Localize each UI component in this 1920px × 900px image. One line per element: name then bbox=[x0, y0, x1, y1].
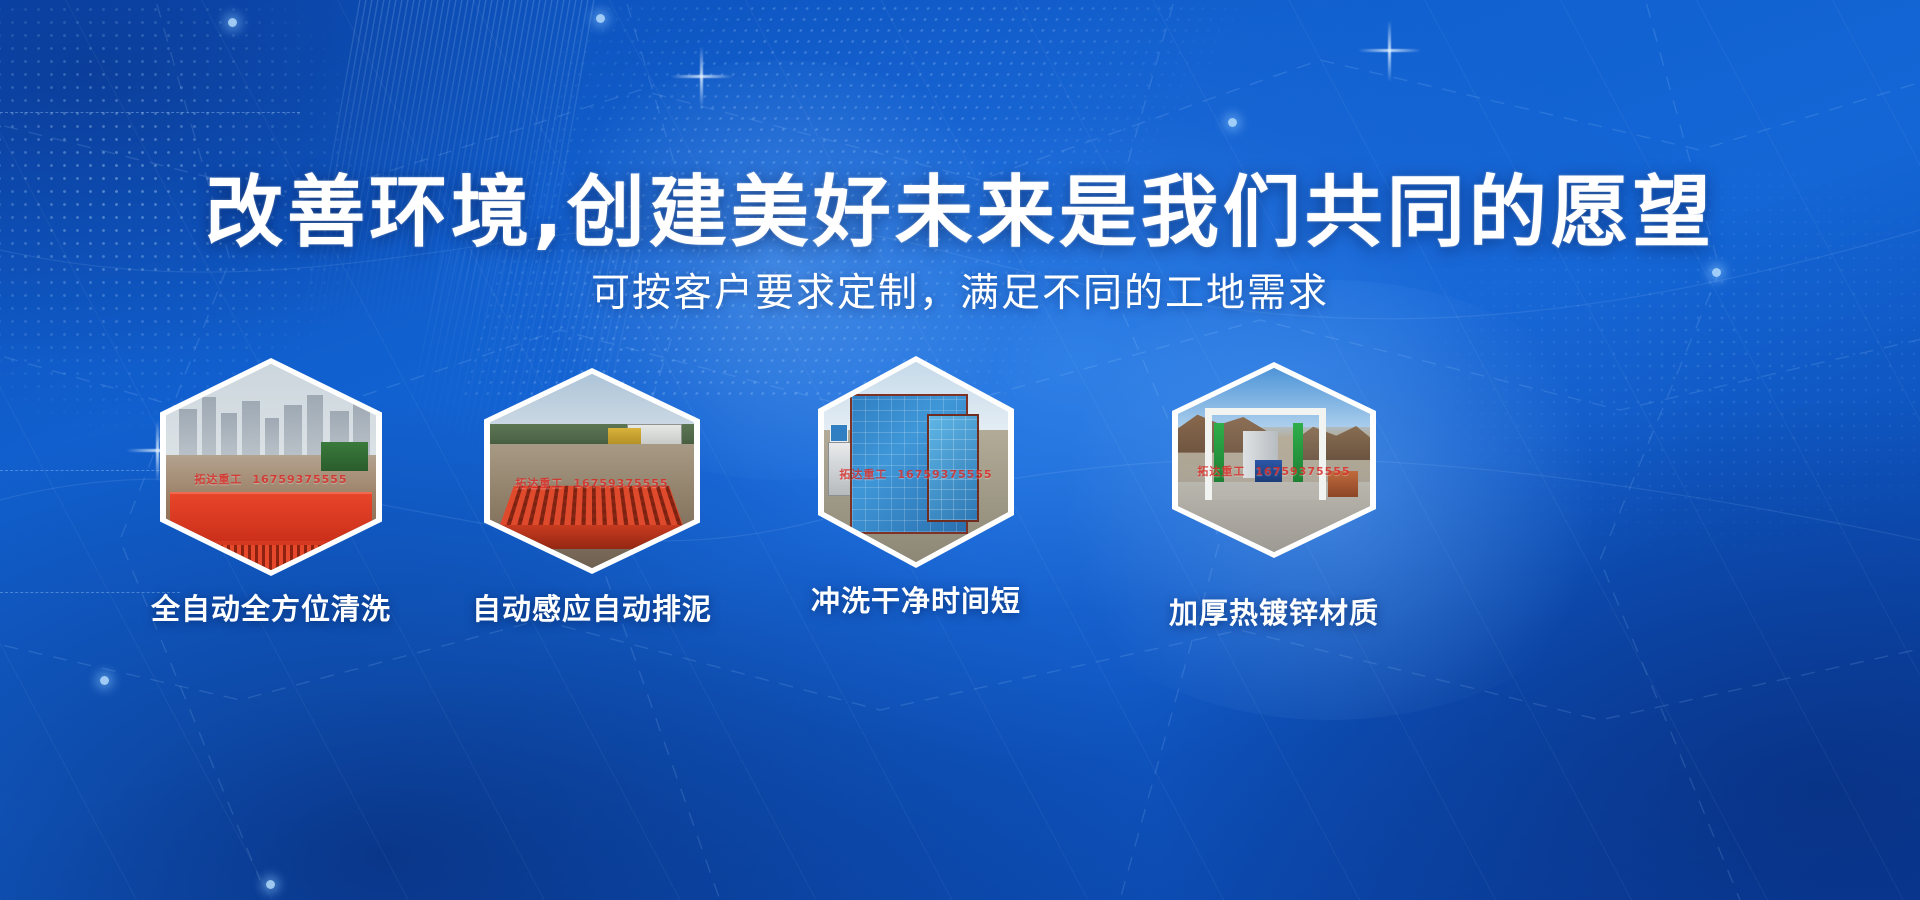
watermark-phone: 16759375555 bbox=[1255, 465, 1350, 478]
watermark-phone: 16759375555 bbox=[573, 477, 668, 490]
watermark-brand: 拓达重工 bbox=[839, 468, 887, 481]
photo-watermark: 拓达重工16759375555 bbox=[194, 471, 347, 487]
photo-watermark: 拓达重工16759375555 bbox=[839, 466, 992, 482]
feature-card-4[interactable]: 拓达重工16759375555 加厚热镀锌材质 bbox=[1172, 362, 1376, 558]
watermark-brand: 拓达重工 bbox=[1197, 465, 1245, 478]
hexagon-frame: 拓达重工16759375555 bbox=[818, 356, 1014, 568]
hexagon-frame: 拓达重工16759375555 bbox=[160, 358, 382, 576]
hexagon-photo-clip: 拓达重工16759375555 bbox=[490, 374, 694, 568]
photo-blue-glass-wash-bay bbox=[824, 362, 1008, 562]
feature-card-3[interactable]: 拓达重工16759375555 冲洗干净时间短 bbox=[818, 356, 1014, 568]
feature-card-1[interactable]: 拓达重工16759375555 全自动全方位清洗 bbox=[160, 358, 382, 576]
promo-banner: 改善环境,创建美好未来是我们共同的愿望 可按客户要求定制，满足不同的工地需求 bbox=[0, 0, 1920, 900]
feature-caption-4: 加厚热镀锌材质 bbox=[1064, 590, 1484, 632]
feature-card-list: 拓达重工16759375555 全自动全方位清洗 bbox=[0, 0, 1920, 900]
watermark-brand: 拓达重工 bbox=[194, 473, 242, 486]
watermark-brand: 拓达重工 bbox=[515, 477, 563, 490]
hexagon-photo-clip: 拓达重工16759375555 bbox=[824, 362, 1008, 562]
photo-watermark: 拓达重工16759375555 bbox=[515, 475, 668, 491]
watermark-phone: 16759375555 bbox=[252, 473, 347, 486]
feature-caption-3: 冲洗干净时间短 bbox=[706, 578, 1126, 620]
hexagon-photo-clip: 拓达重工16759375555 bbox=[1178, 368, 1370, 552]
photo-grating-platform bbox=[490, 374, 694, 568]
photo-gantry-wash-machine bbox=[1178, 368, 1370, 552]
photo-construction-site bbox=[166, 364, 376, 570]
hexagon-photo-clip: 拓达重工16759375555 bbox=[166, 364, 376, 570]
hexagon-frame: 拓达重工16759375555 bbox=[484, 368, 700, 574]
watermark-phone: 16759375555 bbox=[897, 468, 992, 481]
feature-card-2[interactable]: 拓达重工16759375555 自动感应自动排泥 bbox=[484, 368, 700, 574]
hexagon-frame: 拓达重工16759375555 bbox=[1172, 362, 1376, 558]
photo-watermark: 拓达重工16759375555 bbox=[1197, 463, 1350, 479]
